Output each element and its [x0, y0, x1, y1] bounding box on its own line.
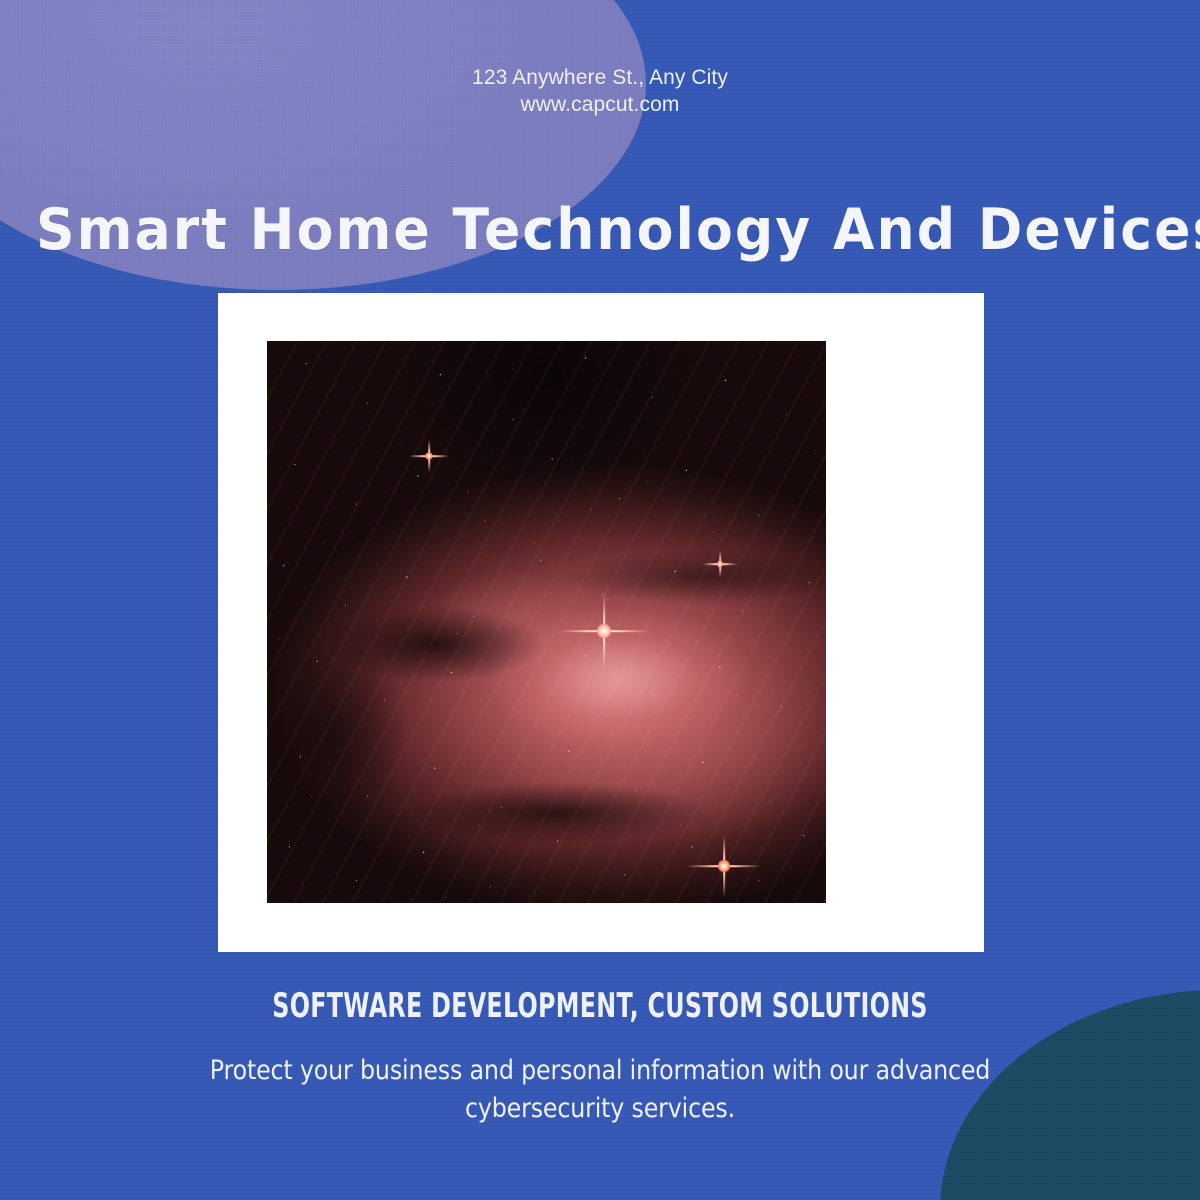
bright-star-upper-left: [409, 436, 449, 476]
star-core: [597, 624, 612, 639]
nebula-image: [267, 341, 826, 903]
star-core: [718, 860, 731, 873]
address-line: 123 Anywhere St., Any City: [0, 64, 1200, 91]
services-description: Protect your business and personal infor…: [146, 1052, 1054, 1128]
star-field-layer-c: [267, 341, 826, 903]
services-subtitle: SOFTWARE DEVELOPMENT, CUSTOM SOLUTIONS: [180, 986, 1020, 1026]
photo-frame: [218, 293, 984, 952]
bright-star-right: [703, 547, 737, 581]
star-core: [717, 561, 724, 568]
poster-canvas: 123 Anywhere St., Any City www.capcut.co…: [0, 0, 1200, 1200]
website-line[interactable]: www.capcut.com: [0, 91, 1200, 118]
contact-header: 123 Anywhere St., Any City www.capcut.co…: [0, 64, 1200, 118]
bright-star-center: [559, 586, 649, 676]
page-title: Smart Home Technology And Devices: [36, 193, 1164, 267]
star-core: [425, 452, 433, 460]
bright-star-lower-right: [687, 829, 761, 903]
